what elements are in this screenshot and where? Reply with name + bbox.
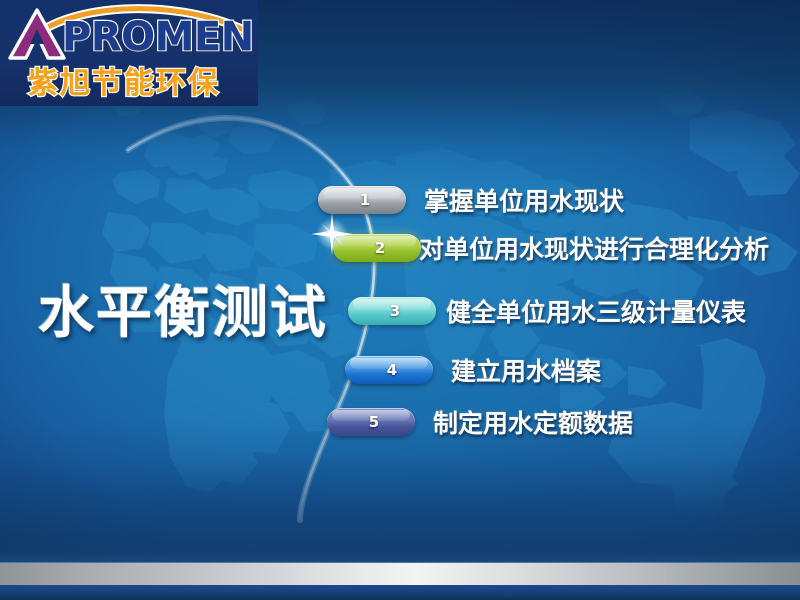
list-item[interactable]: 3 健全单位用水三级计量仪表	[348, 294, 746, 328]
list-item[interactable]: 2 对单位用水现状进行合理化分析	[333, 231, 769, 265]
list-item-badge-1[interactable]: 1	[318, 186, 406, 214]
list-item[interactable]: 4 建立用水档案	[345, 353, 601, 387]
list-item-number: 4	[345, 356, 433, 384]
list-item-label: 健全单位用水三级计量仪表	[446, 293, 746, 329]
footer-shadow	[0, 535, 800, 563]
list-item-label: 对单位用水现状进行合理化分析	[419, 230, 769, 266]
list-item-badge-2[interactable]: 2	[333, 234, 421, 262]
list-item-number: 3	[348, 297, 436, 325]
list-item[interactable]: 1 掌握单位用水现状	[318, 183, 624, 217]
list-item-badge-3[interactable]: 3	[348, 297, 436, 325]
list-item-label: 建立用水档案	[451, 352, 601, 388]
list-item-number: 1	[318, 186, 406, 214]
list-item-label: 掌握单位用水现状	[424, 182, 624, 218]
list-item-number: 5	[327, 408, 415, 436]
list-item-badge-4[interactable]: 4	[345, 356, 433, 384]
list-item[interactable]: 5 制定用水定额数据	[327, 405, 633, 439]
footer-blue-bar	[0, 585, 800, 600]
slide-canvas: PROMEN 紫旭节能环保 紫旭节能环保 水平衡测试 1 掌握单位用水现状 2 …	[0, 0, 800, 600]
list-item-badge-5[interactable]: 5	[327, 408, 415, 436]
list-item-label: 制定用水定额数据	[433, 404, 633, 440]
footer-silver-bar	[0, 563, 800, 585]
list-item-number: 2	[333, 234, 421, 262]
bullet-list: 1 掌握单位用水现状 2 对单位用水现状进行合理化分析 3 健全单位用水三级计量…	[0, 0, 800, 600]
